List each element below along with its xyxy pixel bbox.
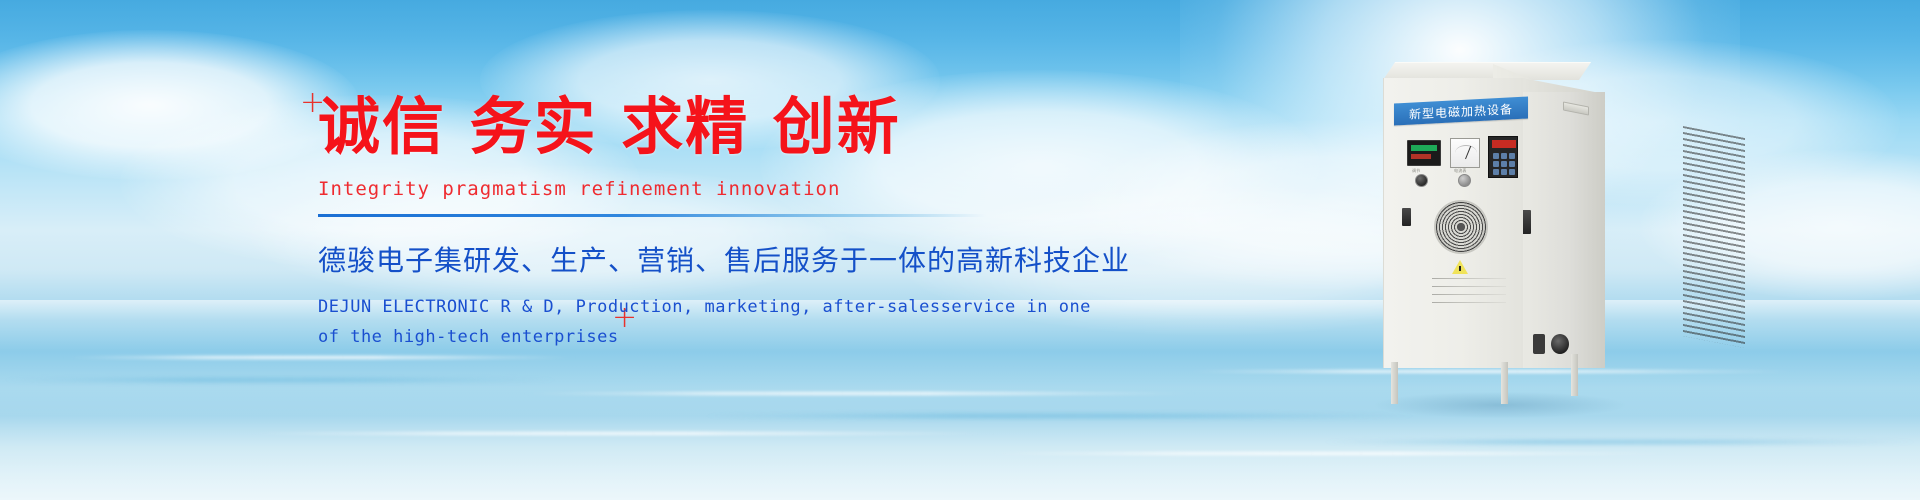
digital-display-icon [1407, 140, 1441, 166]
cabinet-leg [1571, 354, 1578, 396]
wave-highlight [520, 392, 1200, 395]
cloud-shape [1640, 150, 1920, 300]
product-nameplate-label: 新型电磁加热设备 [1394, 96, 1528, 125]
ventilation-grille [1683, 126, 1745, 348]
instruction-line [1432, 286, 1506, 287]
wave-shadow [0, 378, 560, 382]
keypad-key [1501, 169, 1507, 175]
display-segment-green [1411, 145, 1437, 151]
keypad-key [1493, 161, 1499, 167]
keypad-key [1501, 161, 1507, 167]
keypad-key [1509, 153, 1515, 159]
cabinet-front-panel: 新型电磁加热设备 [1383, 78, 1523, 368]
cabinet-leg [1391, 362, 1398, 404]
cooling-fan-grille-icon [1434, 200, 1488, 254]
knob-caption-left: 调节 [1412, 168, 1420, 174]
keypad-key [1509, 169, 1515, 175]
company-tagline-cn: 德骏电子集研发、生产、营销、售后服务于一体的高新科技企业 [318, 239, 1038, 279]
display-segment-red [1411, 154, 1431, 159]
keypad-key [1493, 169, 1499, 175]
keypad-led-readout [1492, 140, 1516, 148]
instruction-text-lines [1432, 278, 1506, 310]
wave-highlight [240, 432, 1000, 435]
control-knob-dark [1415, 174, 1428, 187]
company-tagline-en: DEJUN ELECTRONIC R & D, Production, mark… [318, 293, 1038, 353]
headline-slogan-en: Integrity pragmatism refinement innovati… [318, 178, 1038, 200]
control-knob-light [1458, 174, 1471, 187]
keypad-key [1509, 161, 1515, 167]
section-divider [318, 214, 986, 217]
banner-text-block: 诚信 务实 求精 创新 Integrity pragmatism refinem… [318, 96, 1038, 353]
headline-slogan: 诚信 务实 求精 创新 [318, 96, 1038, 158]
side-connector [1551, 334, 1569, 354]
meter-scale-arc [1455, 145, 1477, 153]
promo-banner: + + 诚信 务实 求精 创新 Integrity pragmatism ref… [0, 0, 1920, 500]
cabinet-side-panel [1523, 92, 1605, 368]
keypad-key [1501, 153, 1507, 159]
keypad-buttons [1493, 153, 1515, 175]
wave-highlight [980, 452, 1680, 455]
instruction-line [1432, 302, 1506, 303]
product-image-heating-equipment: 新型电磁加热设备 [1375, 62, 1665, 402]
instruction-line [1432, 278, 1506, 279]
warning-triangle-icon [1452, 260, 1468, 274]
control-keypad-icon [1488, 136, 1518, 178]
wave-highlight [60, 356, 580, 359]
analog-meter-icon [1450, 138, 1480, 168]
power-switch-icon [1402, 208, 1411, 226]
company-tagline-en-line2: of the high-tech enterprises [318, 323, 1038, 353]
side-port [1533, 334, 1545, 354]
company-tagline-en-line1: DEJUN ELECTRONIC R & D, Production, mark… [318, 293, 1038, 323]
wave-shadow [1320, 440, 1920, 444]
product-shadow [1375, 392, 1625, 418]
wave-shadow [700, 414, 1420, 418]
keypad-key [1493, 153, 1499, 159]
instruction-line [1432, 294, 1506, 295]
cabinet-leg [1501, 362, 1508, 404]
